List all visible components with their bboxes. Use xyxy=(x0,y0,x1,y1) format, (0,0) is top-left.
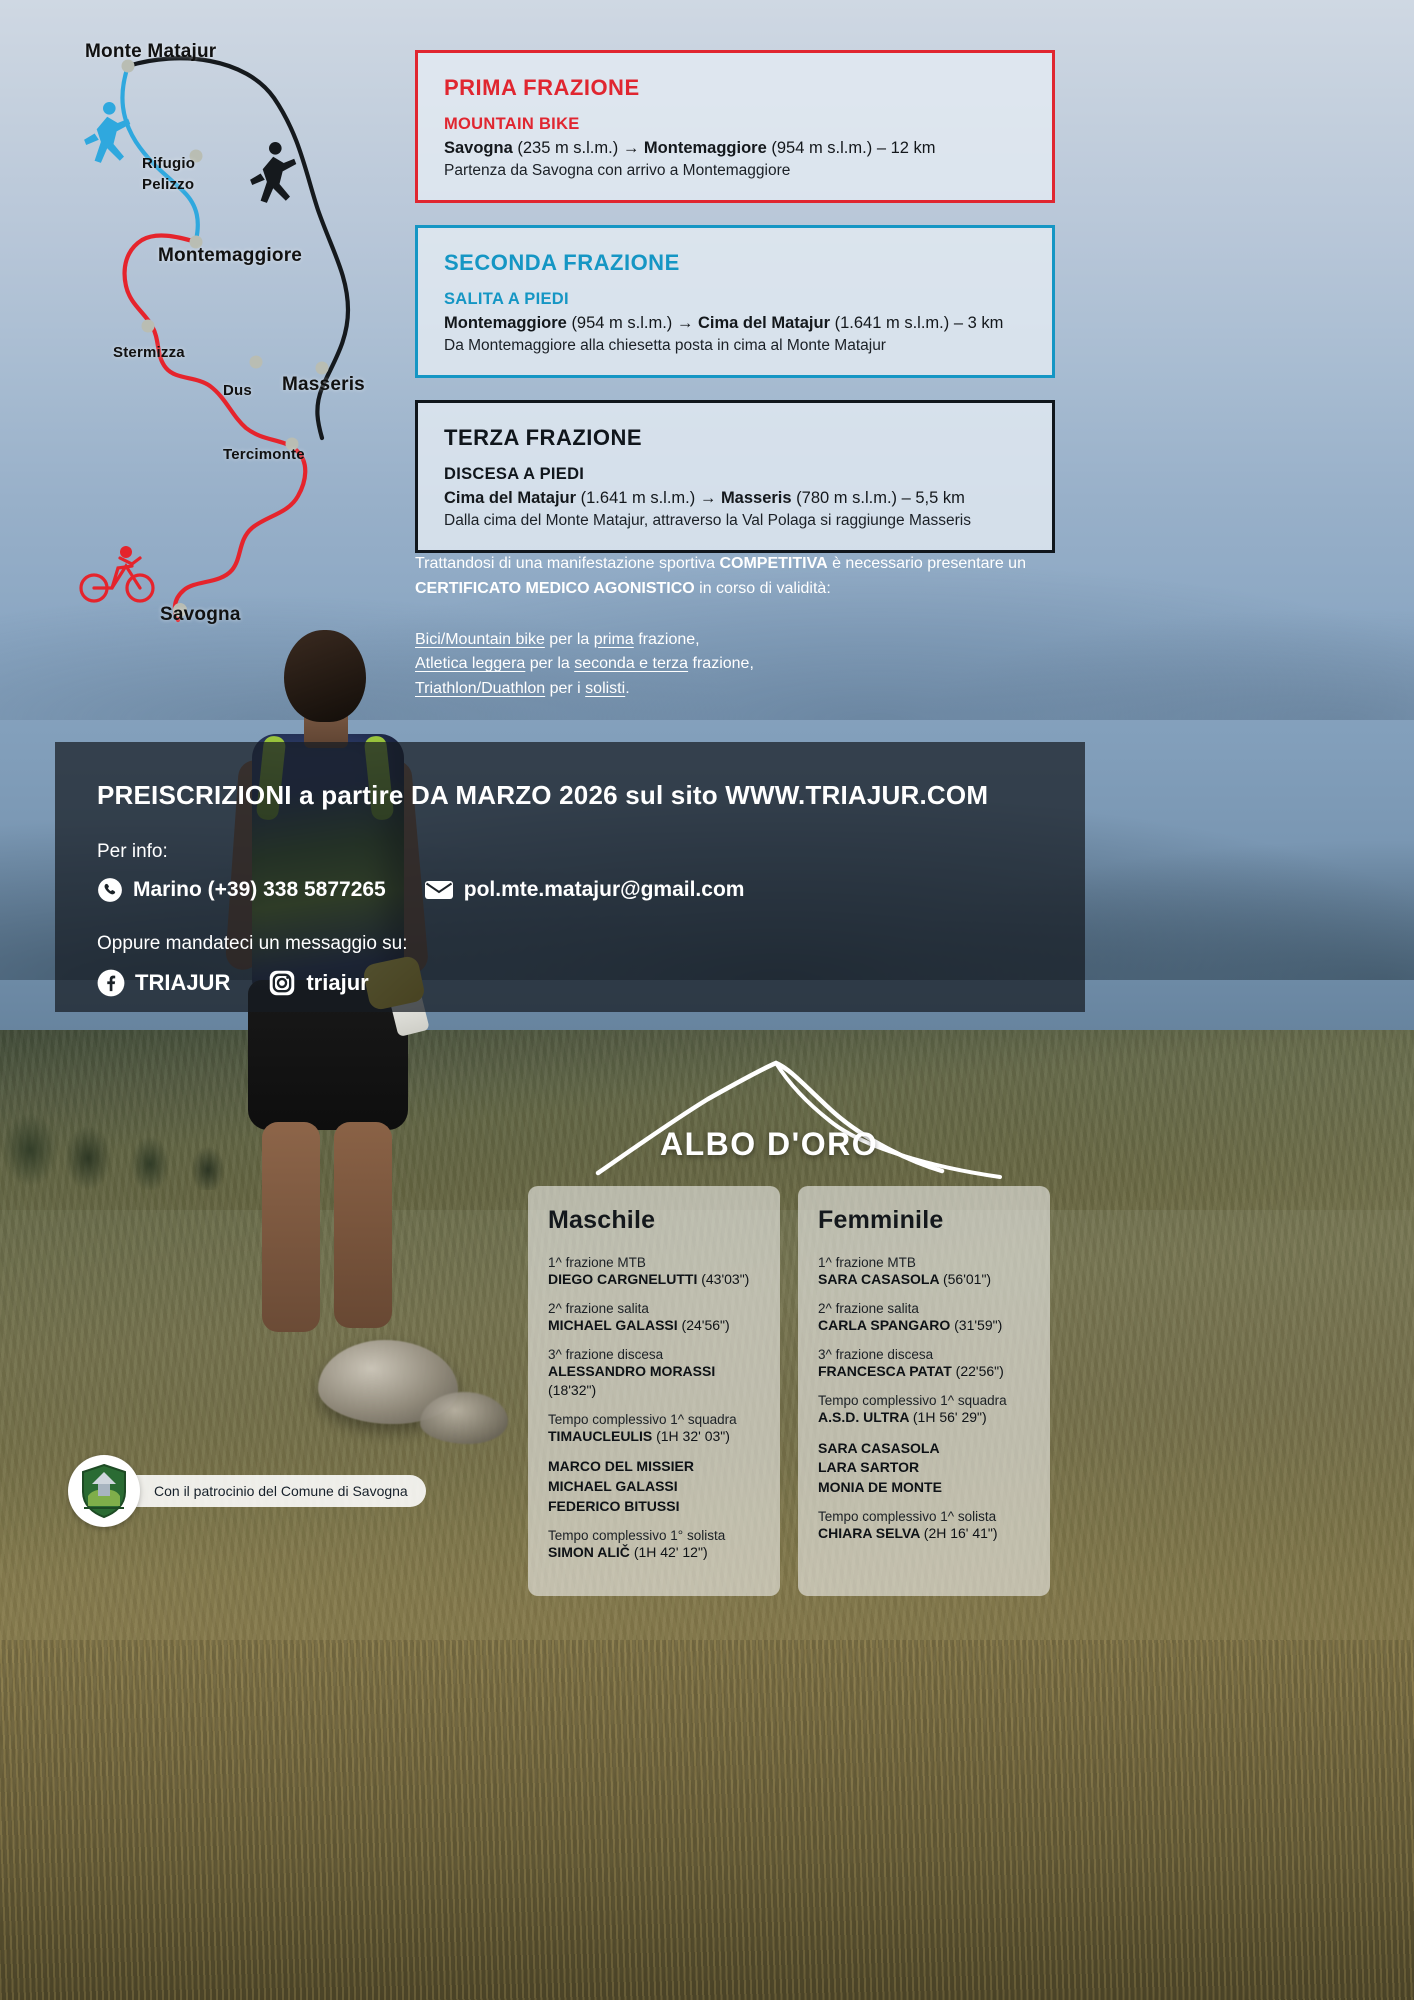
result-entry-team: Tempo complessivo 1^ squadra TIMAUCLEULI… xyxy=(548,1412,760,1446)
comune-crest-icon xyxy=(68,1455,140,1527)
result-category: Tempo complessivo 1^ squadra xyxy=(818,1393,1030,1408)
map-label-rifugio: Rifugio xyxy=(142,155,195,172)
albo-card-femminile: Femminile 1^ frazione MTB SARA CASASOLA … xyxy=(798,1186,1050,1596)
phone-contact[interactable]: Marino (+39) 338 5877265 xyxy=(97,877,386,903)
contact-row: Marino (+39) 338 5877265 pol.mte.matajur… xyxy=(97,877,1043,903)
licence-link-prima[interactable]: prima xyxy=(594,631,634,648)
result-entry: 2^ frazione salita MICHAEL GALASSI (24'5… xyxy=(548,1301,760,1335)
map-label-tercimonte: Tercimonte xyxy=(223,446,305,463)
result-name: MICHAEL GALASSI (24'56") xyxy=(548,1316,760,1335)
albo-card-maschile: Maschile 1^ frazione MTB DIEGO CARGNELUT… xyxy=(528,1186,780,1596)
result-category: 2^ frazione salita xyxy=(548,1301,760,1316)
note-text: . xyxy=(625,680,629,697)
email-address: pol.mte.matajur@gmail.com xyxy=(464,878,745,902)
runner-man-icon xyxy=(250,142,296,203)
licence-link-solisti[interactable]: solisti xyxy=(585,680,625,697)
preregistration-headline: PREISCRIZIONI a partire DA MARZO 2026 su… xyxy=(97,780,1043,811)
result-entry: 1^ frazione MTB DIEGO CARGNELUTTI (43'03… xyxy=(548,1255,760,1289)
race-leg-to: Masseris xyxy=(721,489,792,507)
result-category: Tempo complessivo 1^ solista xyxy=(818,1509,1030,1524)
facebook-handle: TRIAJUR xyxy=(135,970,230,996)
route-blue-path xyxy=(122,66,197,240)
map-label-dus: Dus xyxy=(223,382,252,399)
note-text: per la xyxy=(525,655,574,672)
licence-list: Bici/Mountain bike per la prima frazione… xyxy=(415,628,1055,702)
map-node-masseris xyxy=(316,362,329,375)
licence-link-atletica[interactable]: Atletica leggera xyxy=(415,655,525,672)
card-heading: Femminile xyxy=(818,1206,1030,1235)
race-leg-seconda: SECONDA FRAZIONE SALITA A PIEDI Montemag… xyxy=(415,225,1055,378)
email-contact[interactable]: pol.mte.matajur@gmail.com xyxy=(424,878,745,902)
map-node-stermizza xyxy=(142,320,155,333)
instagram-handle: triajur xyxy=(306,970,368,996)
cyclist-icon xyxy=(81,546,153,601)
map-node-dus xyxy=(250,356,263,369)
note-emphasis-competitiva: COMPETITIVA xyxy=(719,555,827,572)
race-leg-description: Partenza da Savogna con arrivo a Montema… xyxy=(444,162,1026,180)
result-entry-solo: Tempo complessivo 1^ solista CHIARA SELV… xyxy=(818,1509,1030,1543)
race-leg-terza: TERZA FRAZIONE DISCESA A PIEDI Cima del … xyxy=(415,400,1055,553)
albo-title: ALBO D'ORO xyxy=(660,1126,878,1163)
result-entry-solo: Tempo complessivo 1° solista SIMON ALIČ … xyxy=(548,1528,760,1562)
route-map-svg xyxy=(60,24,420,654)
race-leg-distance: – 3 km xyxy=(954,314,1004,332)
note-text: Trattandosi di una manifestazione sporti… xyxy=(415,555,719,572)
result-time: (1H 42' 12") xyxy=(634,1544,708,1560)
result-category: Tempo complessivo 1° solista xyxy=(548,1528,760,1543)
result-time: (1H 56' 29") xyxy=(913,1409,987,1425)
map-label-stermizza: Stermizza xyxy=(113,344,185,361)
race-leg-from: Montemaggiore xyxy=(444,314,567,332)
result-time: (43'03") xyxy=(701,1271,749,1287)
race-leg-to-alt: (1.641 m s.l.m.) xyxy=(835,314,950,332)
note-text: per i xyxy=(545,680,585,697)
team-members: SARA CASASOLA LARA SARTOR MONIA DE MONTE xyxy=(818,1439,1030,1498)
team-member: SARA CASASOLA xyxy=(818,1439,1030,1458)
team-member: FEDERICO BITUSSI xyxy=(548,1497,760,1516)
result-time: (22'56") xyxy=(956,1363,1004,1379)
result-name: CARLA SPANGARO (31'59") xyxy=(818,1316,1030,1335)
race-leg-description: Da Montemaggiore alla chiesetta posta in… xyxy=(444,337,1026,355)
race-leg-from-alt: (235 m s.l.m.) xyxy=(517,139,618,157)
map-label-montemaggiore: Montemaggiore xyxy=(158,245,302,267)
result-time: (24'56") xyxy=(682,1317,730,1333)
result-time: (56'01") xyxy=(943,1271,991,1287)
result-name: SIMON ALIČ (1H 42' 12") xyxy=(548,1543,760,1562)
result-category: 3^ frazione discesa xyxy=(818,1347,1030,1362)
foreground-grass xyxy=(0,1640,1414,2000)
map-label-savogna: Savogna xyxy=(160,604,241,626)
race-leg-discipline: SALITA A PIEDI xyxy=(444,290,1026,309)
race-leg-distance: – 5,5 km xyxy=(902,489,965,507)
result-category: 2^ frazione salita xyxy=(818,1301,1030,1316)
route-red-path xyxy=(125,236,306,620)
albo-cards: Maschile 1^ frazione MTB DIEGO CARGNELUT… xyxy=(528,1186,1056,1596)
result-name: SARA CASASOLA (56'01") xyxy=(818,1270,1030,1289)
result-category: 1^ frazione MTB xyxy=(548,1255,760,1270)
team-member: MONIA DE MONTE xyxy=(818,1478,1030,1497)
result-entry: 3^ frazione discesa FRANCESCA PATAT (22'… xyxy=(818,1347,1030,1381)
phone-number: Marino (+39) 338 5877265 xyxy=(133,878,386,902)
arrow-icon: → xyxy=(677,314,694,332)
facebook-link[interactable]: TRIAJUR xyxy=(97,969,230,997)
contact-panel: PREISCRIZIONI a partire DA MARZO 2026 su… xyxy=(55,742,1085,1012)
result-entry: 1^ frazione MTB SARA CASASOLA (56'01") xyxy=(818,1255,1030,1289)
race-leg-description: Dalla cima del Monte Matajur, attraverso… xyxy=(444,512,1026,530)
result-entry-team: Tempo complessivo 1^ squadra A.S.D. ULTR… xyxy=(818,1393,1030,1427)
race-leg-title: TERZA FRAZIONE xyxy=(444,425,1026,451)
race-leg-distance: – 12 km xyxy=(877,139,936,157)
instagram-link[interactable]: triajur xyxy=(268,969,368,997)
message-label: Oppure mandateci un messaggio su: xyxy=(97,933,1043,955)
phone-icon xyxy=(97,877,123,903)
result-category: 3^ frazione discesa xyxy=(548,1347,760,1362)
licence-link-seconda-terza[interactable]: seconda e terza xyxy=(574,655,688,672)
race-leg-to-alt: (780 m s.l.m.) xyxy=(796,489,897,507)
athlete-leg-left xyxy=(262,1122,320,1332)
result-entry: 3^ frazione discesa ALESSANDRO MORASSI (… xyxy=(548,1347,760,1400)
race-leg-route: Montemaggiore (954 m s.l.m.) → Cima del … xyxy=(444,314,1026,333)
team-members: MARCO DEL MISSIER MICHAEL GALASSI FEDERI… xyxy=(548,1457,760,1516)
requirements-notes: Trattandosi di una manifestazione sporti… xyxy=(415,552,1055,702)
albo-mountain-graphic xyxy=(590,1055,1030,1185)
licence-link-bici[interactable]: Bici/Mountain bike xyxy=(415,631,545,648)
route-map: Monte MatajurRifugioPelizzoMontemaggiore… xyxy=(60,24,420,654)
race-leg-from-alt: (954 m s.l.m.) xyxy=(571,314,672,332)
facebook-icon xyxy=(97,969,125,997)
result-category: Tempo complessivo 1^ squadra xyxy=(548,1412,760,1427)
race-leg-to: Montemaggiore xyxy=(644,139,767,157)
result-name: FRANCESCA PATAT (22'56") xyxy=(818,1362,1030,1381)
info-label: Per info: xyxy=(97,841,1043,863)
race-leg-title: PRIMA FRAZIONE xyxy=(444,75,1026,101)
result-time: (31'59") xyxy=(954,1317,1002,1333)
result-entry: 2^ frazione salita CARLA SPANGARO (31'59… xyxy=(818,1301,1030,1335)
result-time: (18'32") xyxy=(548,1382,596,1398)
result-name: TIMAUCLEULIS (1H 32' 03") xyxy=(548,1427,760,1446)
result-time: (1H 32' 03") xyxy=(656,1428,730,1444)
team-member: LARA SARTOR xyxy=(818,1458,1030,1477)
race-leg-prima: PRIMA FRAZIONE MOUNTAIN BIKE Savogna (23… xyxy=(415,50,1055,203)
athlete-leg-right xyxy=(334,1122,392,1328)
card-heading: Maschile xyxy=(548,1206,760,1235)
race-leg-from: Savogna xyxy=(444,139,513,157)
arrow-icon: → xyxy=(700,489,717,507)
result-name: DIEGO CARGNELUTTI (43'03") xyxy=(548,1270,760,1289)
team-member: MARCO DEL MISSIER xyxy=(548,1457,760,1476)
result-category: 1^ frazione MTB xyxy=(818,1255,1030,1270)
team-member: MICHAEL GALASSI xyxy=(548,1477,760,1496)
note-text: frazione, xyxy=(688,655,754,672)
race-leg-discipline: MOUNTAIN BIKE xyxy=(444,115,1026,134)
race-leg-from: Cima del Matajur xyxy=(444,489,576,507)
result-name: ALESSANDRO MORASSI (18'32") xyxy=(548,1362,760,1400)
arrow-icon: → xyxy=(623,139,640,157)
race-leg-route: Cima del Matajur (1.641 m s.l.m.) → Mass… xyxy=(444,489,1026,508)
race-leg-title: SECONDA FRAZIONE xyxy=(444,250,1026,276)
note-text: in corso di validità: xyxy=(695,580,831,597)
race-leg-to: Cima del Matajur xyxy=(698,314,830,332)
race-leg-from-alt: (1.641 m s.l.m.) xyxy=(581,489,696,507)
race-leg-to-alt: (954 m s.l.m.) xyxy=(771,139,872,157)
note-emphasis-certificato: CERTIFICATO MEDICO AGONISTICO xyxy=(415,580,695,597)
patron-label: Con il patrocinio del Comune di Savogna xyxy=(98,1475,426,1507)
race-legs: PRIMA FRAZIONE MOUNTAIN BIKE Savogna (23… xyxy=(415,50,1055,575)
note-text: frazione, xyxy=(634,631,700,648)
mountain-outline-icon xyxy=(590,1055,1030,1185)
note-text: è necessario presentare un xyxy=(828,555,1026,572)
certificate-paragraph: Trattandosi di una manifestazione sporti… xyxy=(415,552,1055,602)
instagram-icon xyxy=(268,969,296,997)
race-leg-route: Savogna (235 m s.l.m.) → Montemaggiore (… xyxy=(444,139,1026,158)
result-name: A.S.D. ULTRA (1H 56' 29") xyxy=(818,1408,1030,1427)
result-time: (2H 16' 41") xyxy=(924,1525,998,1541)
envelope-icon xyxy=(424,879,454,901)
race-leg-discipline: DISCESA A PIEDI xyxy=(444,465,1026,484)
note-text: per la xyxy=(545,631,594,648)
result-name: CHIARA SELVA (2H 16' 41") xyxy=(818,1524,1030,1543)
patron-footer: Con il patrocinio del Comune di Savogna xyxy=(68,1455,426,1527)
map-label-monte-matajur: Monte Matajur xyxy=(85,41,216,63)
licence-link-triathlon[interactable]: Triathlon/Duathlon xyxy=(415,680,545,697)
social-row: TRIAJUR triajur xyxy=(97,969,1043,997)
map-label-pelizzo: Pelizzo xyxy=(142,176,194,193)
map-label-masseris: Masseris xyxy=(282,374,365,396)
